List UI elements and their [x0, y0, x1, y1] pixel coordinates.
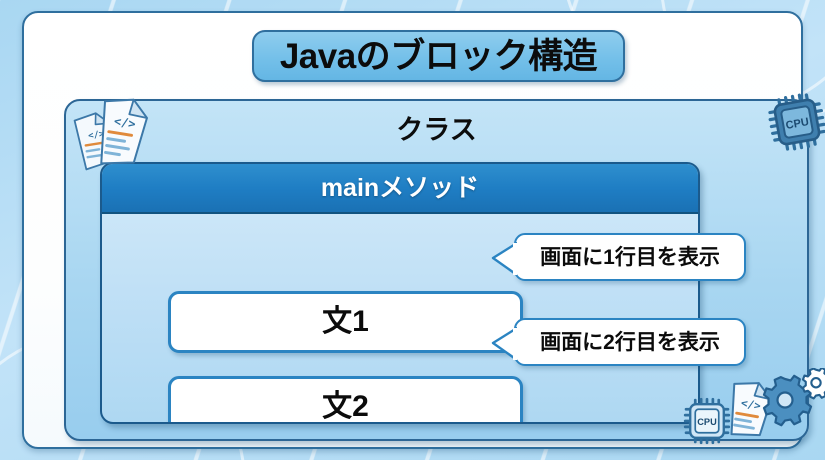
- callout-tail-icon: [491, 242, 517, 276]
- statement-box-2: 文2: [168, 376, 523, 424]
- annotation-text-2: 画面に2行目を表示: [540, 332, 720, 353]
- annotation-text-1: 画面に1行目を表示: [540, 247, 720, 268]
- main-method-block: mainメソッド 文1 文2: [100, 162, 700, 424]
- page-title: Javaのブロック構造: [280, 39, 597, 74]
- statement-label-2: 文2: [322, 392, 369, 422]
- content-card: Javaのブロック構造 クラス mainメソッド 文1 文2: [22, 11, 803, 449]
- page-title-badge: Javaのブロック構造: [252, 30, 625, 82]
- callout-tail-icon: [491, 327, 517, 361]
- main-method-header: mainメソッド: [102, 164, 698, 214]
- statement-label-1: 文1: [322, 307, 369, 337]
- annotation-callout-2: 画面に2行目を表示: [514, 318, 746, 366]
- main-method-label: mainメソッド: [321, 176, 479, 201]
- annotation-callout-1: 画面に1行目を表示: [514, 233, 746, 281]
- class-block-label: クラス: [66, 117, 807, 144]
- statement-box-1: 文1: [168, 291, 523, 353]
- slide-canvas: Javaのブロック構造 クラス mainメソッド 文1 文2: [0, 0, 825, 460]
